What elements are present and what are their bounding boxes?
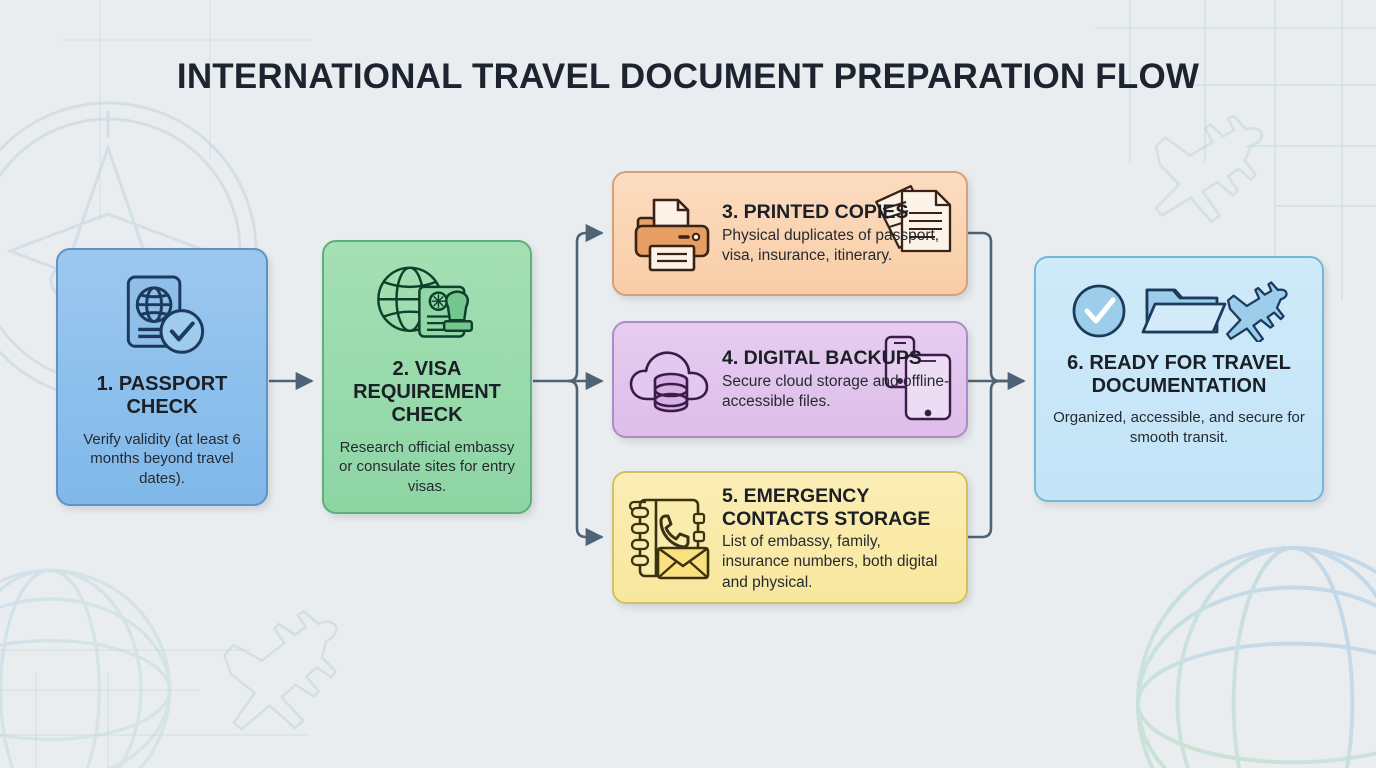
cloud-database-icon (629, 347, 715, 413)
flow-node-emergency-contacts-storage[interactable]: 5. EMERGENCY CONTACTS STORAGE List of em… (612, 471, 968, 604)
node-description: Secure cloud storage and offline-accessi… (722, 372, 952, 412)
edge-5-to-6 (968, 381, 1012, 537)
node-description: Organized, accessible, and secure for sm… (1050, 408, 1308, 447)
page-title: INTERNATIONAL TRAVEL DOCUMENT PREPARATIO… (0, 57, 1376, 97)
node-description: Verify validity (at least 6 months beyon… (72, 430, 252, 489)
flow-node-ready-for-travel-documentation[interactable]: 6. READY FOR TRAVEL DOCUMENTATION Organi… (1034, 256, 1324, 502)
flow-node-digital-backups[interactable]: 4. DIGITAL BACKUPS Secure cloud storage … (612, 321, 968, 438)
globe-visa-stamp-icon (371, 264, 483, 348)
grid-watermark (1095, 0, 1376, 300)
check-circle-icon (1074, 286, 1124, 336)
airplane-icon (1227, 282, 1286, 342)
node-title: 4. DIGITAL BACKUPS (722, 347, 952, 370)
node-text: 3. PRINTED COPIES Physical duplicates of… (722, 201, 952, 266)
node-description: List of embassy, family, insurance numbe… (722, 532, 952, 592)
node-title: 1. PASSPORT CHECK (72, 373, 252, 419)
node-description: Research official embassy or consulate s… (338, 438, 516, 497)
folder-icon (1143, 290, 1225, 332)
node-icon-left (622, 196, 722, 272)
node-icon-left (622, 347, 722, 413)
flow-node-printed-copies[interactable]: 3. PRINTED COPIES Physical duplicates of… (612, 171, 968, 296)
airplane-watermark (212, 608, 360, 738)
node-title: 2. VISA REQUIREMENT CHECK (338, 358, 516, 428)
edge-2-to-3 (568, 233, 602, 381)
contact-book-phone-envelope-icon (628, 496, 716, 582)
airplane-watermark (1150, 110, 1270, 230)
grid-watermark (60, 0, 380, 220)
node-title: 5. EMERGENCY CONTACTS STORAGE (722, 485, 952, 530)
node-title: 6. READY FOR TRAVEL DOCUMENTATION (1050, 352, 1308, 398)
node-text: 4. DIGITAL BACKUPS Secure cloud storage … (722, 347, 952, 412)
node-text: 5. EMERGENCY CONTACTS STORAGE List of em… (722, 485, 952, 593)
node-title: 3. PRINTED COPIES (722, 201, 952, 224)
flow-node-passport-check[interactable]: 1. PASSPORT CHECK Verify validity (at le… (56, 248, 268, 506)
globe-watermark (1128, 538, 1376, 768)
edge-3-to-6 (968, 233, 1012, 381)
passport-globe-check-icon (112, 272, 212, 363)
ready-icons-group (1069, 280, 1289, 342)
node-description: Physical duplicates of passport, visa, i… (722, 226, 952, 266)
globe-watermark (0, 560, 180, 768)
diagram-canvas: INTERNATIONAL TRAVEL DOCUMENT PREPARATIO… (0, 0, 1376, 768)
node-icon-left (622, 496, 722, 582)
flow-node-visa-requirement-check[interactable]: 2. VISA REQUIREMENT CHECK Research offic… (322, 240, 532, 514)
printer-icon (630, 196, 714, 272)
edge-2-to-5 (568, 381, 602, 537)
grid-watermark (0, 600, 340, 768)
